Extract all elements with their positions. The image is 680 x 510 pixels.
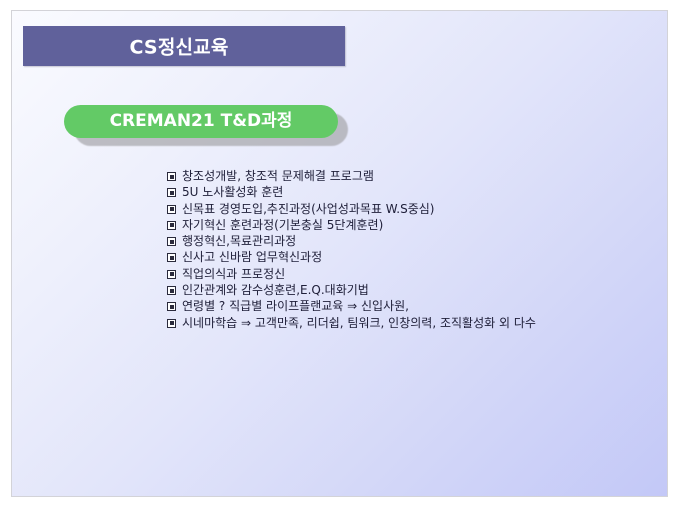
list-item: 인간관계와 감수성훈련,E.Q.대화기법 — [167, 282, 667, 298]
list-item: 신목표 경영도입,추진과정(사업성과목표 W.S중심) — [167, 201, 667, 217]
filled-square-bullet-icon — [167, 188, 176, 197]
list-item-label: 5U 노사활성화 훈련 — [182, 184, 283, 200]
filled-square-bullet-icon — [167, 286, 176, 295]
course-bullet-list: 창조성개발, 창조적 문제해결 프로그램 5U 노사활성화 훈련 신목표 경영도… — [167, 168, 667, 331]
list-item: 5U 노사활성화 훈련 — [167, 184, 667, 200]
list-item-label: 자기혁신 훈련과정(기본충실 5단계훈련) — [182, 217, 383, 233]
list-item: 직업의식과 프로정신 — [167, 266, 667, 282]
filled-square-bullet-icon — [167, 205, 176, 214]
filled-square-bullet-icon — [167, 270, 176, 279]
list-item-label: 신사고 신바람 업무혁신과정 — [182, 249, 322, 265]
pill-label: CREMAN21 T&D과정 — [64, 105, 338, 138]
list-item: 자기혁신 훈련과정(기본충실 5단계훈련) — [167, 217, 667, 233]
list-item-label: 시네마학습 ⇒ 고객만족, 리더쉽, 팀워크, 인창의력, 조직활성화 외 다수 — [182, 315, 536, 331]
list-item: 행정혁신,목료관리과정 — [167, 233, 667, 249]
course-pill-badge: CREMAN21 T&D과정 — [64, 105, 364, 151]
pill-background: CREMAN21 T&D과정 — [64, 105, 338, 138]
list-item-label: 행정혁신,목료관리과정 — [182, 233, 296, 249]
list-item: 신사고 신바람 업무혁신과정 — [167, 249, 667, 265]
slide-title-banner: CS정신교육 — [23, 26, 345, 66]
filled-square-bullet-icon — [167, 302, 176, 311]
list-item-label: 직업의식과 프로정신 — [182, 266, 285, 282]
filled-square-bullet-icon — [167, 253, 176, 262]
list-item-label: 인간관계와 감수성훈련,E.Q.대화기법 — [182, 282, 369, 298]
list-item: 연령별 ? 직급별 라이프플랜교육 ⇒ 신입사원, — [167, 298, 667, 314]
page-title: CS정신교육 — [23, 33, 335, 60]
presentation-slide: CS정신교육 CREMAN21 T&D과정 창조성개발, 창조적 문제해결 프로… — [11, 10, 668, 497]
list-item-label: 창조성개발, 창조적 문제해결 프로그램 — [182, 168, 374, 184]
list-item: 시네마학습 ⇒ 고객만족, 리더쉽, 팀워크, 인창의력, 조직활성화 외 다수 — [167, 315, 667, 331]
list-item-label: 신목표 경영도입,추진과정(사업성과목표 W.S중심) — [182, 201, 435, 217]
list-item-label: 연령별 ? 직급별 라이프플랜교육 ⇒ 신입사원, — [182, 298, 409, 314]
filled-square-bullet-icon — [167, 237, 176, 246]
filled-square-bullet-icon — [167, 221, 176, 230]
filled-square-bullet-icon — [167, 172, 176, 181]
list-item: 창조성개발, 창조적 문제해결 프로그램 — [167, 168, 667, 184]
filled-square-bullet-icon — [167, 319, 176, 328]
